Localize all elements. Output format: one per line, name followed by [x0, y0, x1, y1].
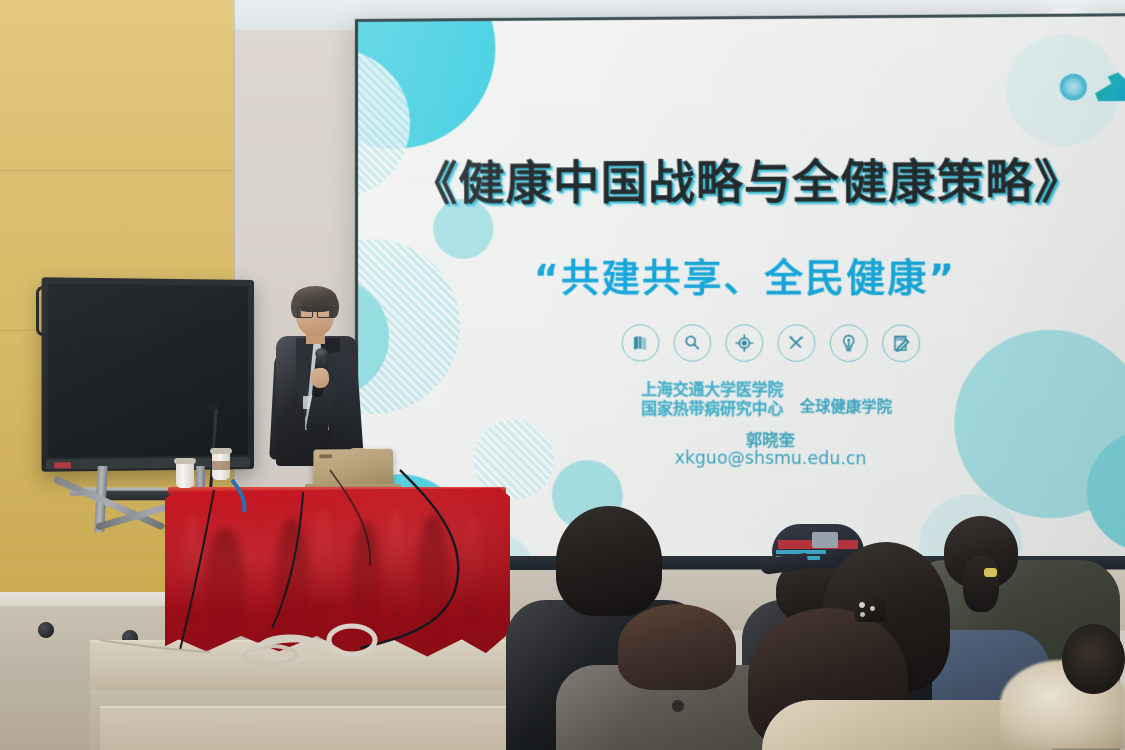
presenter-email-text: xkguo@shsmu.edu.cn: [355, 447, 1125, 471]
lecture-hall-scene: 《健康中国战略与全健康策略》 “共建共享、全民健康”: [0, 0, 1125, 750]
stage-step: [100, 706, 520, 750]
slide-logos: [1060, 72, 1125, 101]
laptop[interactable]: [313, 449, 393, 487]
target-icon: [725, 324, 763, 361]
affiliation-left: 上海交通大学医学院 国家热带病研究中心: [641, 381, 783, 419]
slide-subtitle: “共建共享、全民健康”: [355, 246, 1125, 302]
tv-display[interactable]: [42, 277, 254, 471]
presenter-glasses: [297, 307, 333, 316]
slide-title: 《健康中国战略与全健康策略》: [355, 144, 1125, 213]
audience-head: [1062, 624, 1125, 694]
affiliation-left-line1: 上海交通大学医学院: [641, 381, 783, 400]
coat-button: [672, 700, 684, 712]
hair-tie: [984, 568, 997, 577]
cup-sleeve: [212, 461, 230, 470]
paper-cup[interactable]: [176, 462, 194, 488]
books-icon: [622, 324, 660, 361]
notebook-pen-icon: [882, 324, 920, 362]
tv-screen: [48, 284, 248, 458]
cup-lid: [210, 448, 232, 454]
magnifier-icon: [674, 324, 712, 361]
tools-icon: [778, 324, 816, 362]
red-tablecloth: [165, 488, 510, 660]
university-seal-logo: [1060, 74, 1087, 101]
lightbulb-icon: [830, 324, 868, 362]
affiliation-left-line2: 国家热带病研究中心: [641, 399, 783, 418]
cup-lid: [174, 458, 196, 464]
slide-icon-row: [355, 324, 1125, 362]
affiliation-right: 全球健康学院: [800, 381, 892, 417]
caster-wheel: [38, 622, 54, 638]
tv-sticker: [54, 462, 71, 468]
audience-ponytail: [963, 556, 999, 612]
audience-member-2: [618, 604, 736, 690]
audience-member-1: [556, 506, 662, 616]
coffee-cup[interactable]: [212, 452, 230, 480]
shsmu-emblem-logo: [1095, 72, 1125, 101]
laptop-logo: [319, 454, 332, 458]
slide-affiliation: 上海交通大学医学院 国家热带病研究中心 全球健康学院: [355, 380, 1125, 420]
